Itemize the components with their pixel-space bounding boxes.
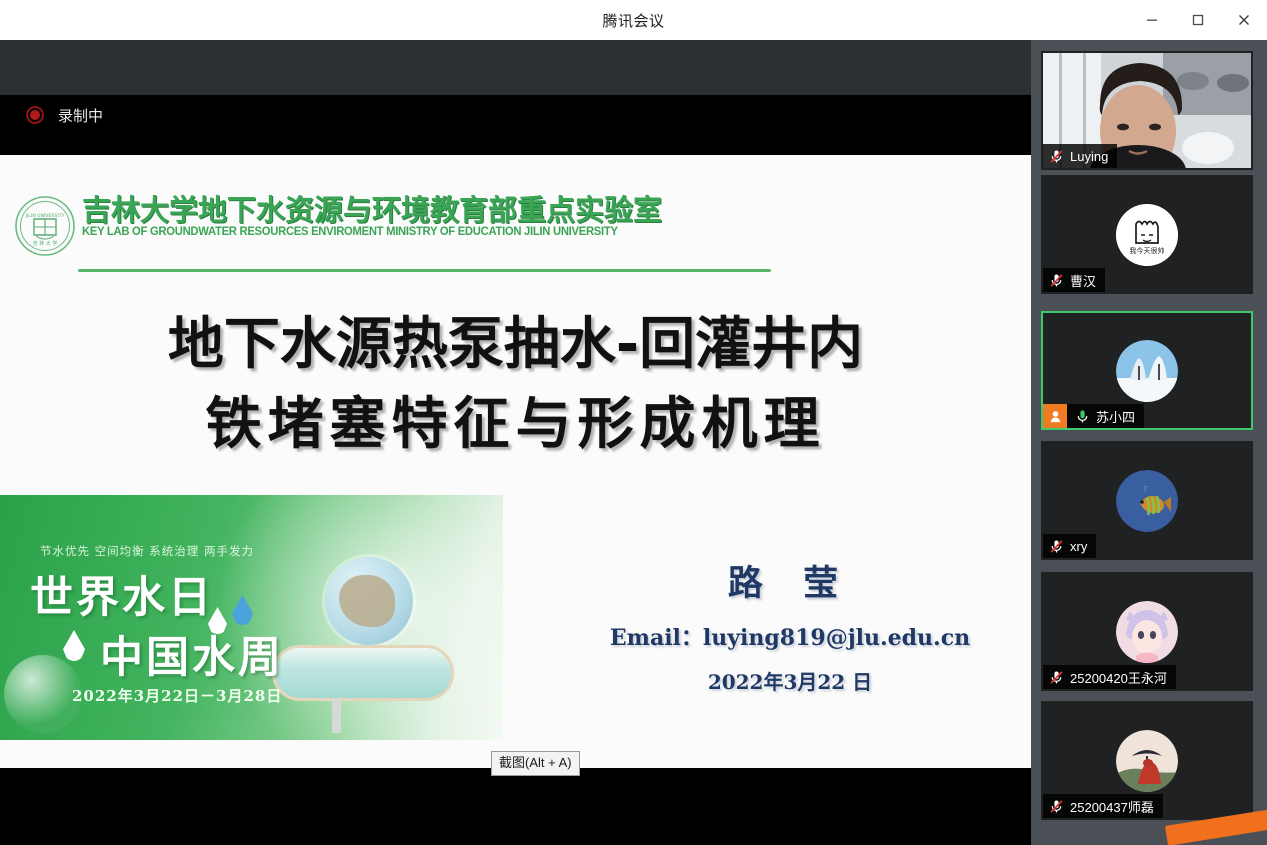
participant-tile-luying[interactable]: Luying — [1041, 51, 1253, 170]
water-basin-graphic — [272, 645, 454, 701]
participant-namebar: xry — [1043, 534, 1096, 558]
participant-name: 苏小四 — [1096, 407, 1135, 426]
maximize-button[interactable] — [1175, 0, 1221, 40]
avatar — [1116, 340, 1178, 402]
participant-namebar: 苏小四 — [1043, 404, 1144, 428]
mic-active-icon — [1074, 408, 1091, 425]
participant-name: 曹汉 — [1070, 271, 1096, 290]
slide-title: 地下水源热泵抽水-回灌井内 铁堵塞特征与形成机理 — [0, 305, 1031, 464]
svg-text:?: ? — [1143, 485, 1147, 494]
mic-muted-icon — [1048, 798, 1065, 815]
presentation-slide: JILIN UNIVERSITY 吉 林 大 学 吉林大学地下水资源与环境教育部… — [0, 155, 1031, 768]
participant-name: 25200437师磊 — [1070, 797, 1154, 816]
presentation-date: 2022年3月22 日 — [560, 666, 1020, 695]
meeting-window: 腾讯会议 录制中 — [0, 0, 1267, 845]
svg-text:我今天很帅: 我今天很帅 — [1130, 246, 1165, 255]
recording-dot-icon — [26, 106, 44, 124]
avatar: 我今天很帅 — [1116, 204, 1178, 266]
avatar: ? — [1116, 470, 1178, 532]
presenter-block: 路 莹 Email：luying819@jlu.edu.cn 2022年3月22… — [560, 555, 1020, 695]
banner-date-range: 2022年3月22日－3月28日 — [72, 685, 282, 706]
minimize-button[interactable] — [1129, 0, 1175, 40]
slide-header-rule — [78, 269, 771, 272]
participant-namebar: 25200420王永河 — [1043, 665, 1176, 689]
participant-name: xry — [1070, 539, 1087, 554]
mic-muted-icon — [1048, 148, 1065, 165]
participant-tile-caohan[interactable]: 我今天很帅 曹汉 — [1041, 175, 1253, 294]
water-drop-blue-icon — [232, 595, 253, 625]
presenter-name: 路 莹 — [560, 555, 1020, 606]
shared-screen-stage[interactable]: 录制中 JILIN UNIVERSITY 吉 林 大 学 — [0, 40, 1031, 845]
mic-muted-icon — [1048, 669, 1065, 686]
slide-title-line-1: 地下水源热泵抽水-回灌井内 — [0, 305, 1031, 385]
participant-name: Luying — [1070, 149, 1108, 164]
lab-name-cn: 吉林大学地下水资源与环境教育部重点实验室 — [82, 195, 662, 225]
recording-label: 录制中 — [58, 105, 103, 126]
participant-tile-suxiaosi[interactable]: 苏小四 — [1041, 311, 1253, 430]
host-badge-icon — [1043, 404, 1067, 428]
slide-title-line-2: 铁堵塞特征与形成机理 — [0, 385, 1031, 465]
screenshot-tooltip: 截图(Alt + A) — [491, 751, 580, 776]
banner-line-2: 中国水周 — [100, 623, 284, 685]
mic-muted-icon — [1048, 272, 1065, 289]
window-controls — [1129, 0, 1267, 40]
jlu-logo-icon: JILIN UNIVERSITY 吉 林 大 学 — [14, 195, 76, 257]
svg-text:JILIN UNIVERSITY: JILIN UNIVERSITY — [25, 213, 65, 219]
stage-top-strip — [0, 40, 1031, 95]
water-drop-left-icon — [63, 630, 85, 661]
presenter-email: Email：luying819@jlu.edu.cn — [560, 620, 1020, 652]
banner-slogan: 节水优先 空间均衡 系统治理 两手发力 — [40, 543, 254, 559]
participant-name: 25200420王永河 — [1070, 668, 1167, 687]
faucet-pipe-graphic — [332, 699, 341, 733]
participant-tile-wangyonghe[interactable]: 25200420王永河 — [1041, 572, 1253, 691]
window-title: 腾讯会议 — [602, 10, 664, 31]
participant-namebar: 25200437师磊 — [1043, 794, 1163, 818]
globe-icon — [325, 557, 413, 645]
svg-text:吉 林 大 学: 吉 林 大 学 — [33, 240, 58, 247]
avatar — [1116, 601, 1178, 663]
banner-line-1: 世界水日 — [30, 563, 214, 625]
close-button[interactable] — [1221, 0, 1267, 40]
participant-namebar: 曹汉 — [1043, 268, 1105, 292]
participant-tile-xry[interactable]: ? xry — [1041, 441, 1253, 560]
lab-name-en: KEY LAB OF GROUNDWATER RESOURCES ENVIROM… — [82, 226, 650, 238]
participant-tile-shilei[interactable]: 25200437师磊 — [1041, 701, 1253, 820]
mic-muted-icon — [1048, 538, 1065, 555]
window-titlebar: 腾讯会议 — [0, 0, 1267, 40]
recording-indicator-bar: 录制中 — [0, 95, 1031, 135]
stage-bottom-letterbox — [0, 768, 1031, 845]
avatar — [1116, 730, 1178, 792]
world-water-day-banner: 节水优先 空间均衡 系统治理 两手发力 世界水日 中国水周 2022年3月22日… — [0, 495, 503, 740]
participant-namebar: Luying — [1043, 144, 1117, 168]
participant-sidebar[interactable]: Luying 我今天很帅 — [1031, 40, 1267, 845]
slide-header: JILIN UNIVERSITY 吉 林 大 学 吉林大学地下水资源与环境教育部… — [0, 193, 1031, 265]
bubble-decoration — [4, 655, 82, 733]
